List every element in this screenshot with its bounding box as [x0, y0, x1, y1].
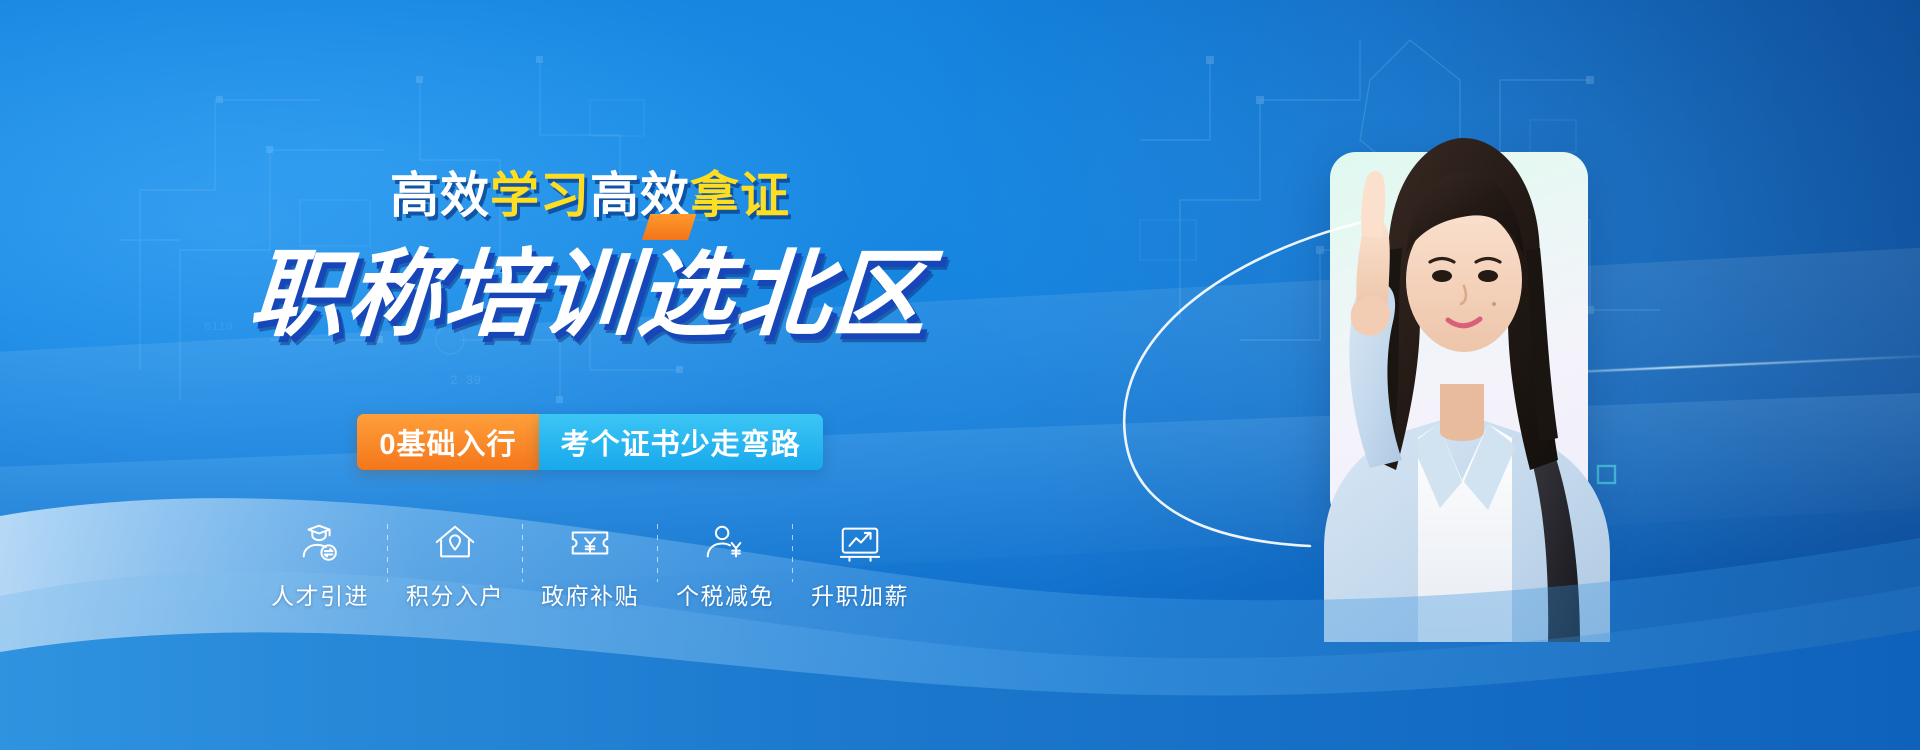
pill-certificate-shortcut: 考个证书少走弯路: [539, 414, 823, 470]
house-pin-icon: [432, 520, 478, 566]
kicker-seg-0: 高效: [390, 169, 490, 223]
feature-item-talent-intro[interactable]: 人才引进: [253, 520, 387, 611]
pill-label: 考个证书少走弯路: [561, 421, 801, 463]
person-yuan-icon: [702, 520, 748, 566]
headline-accent-char: 选: [634, 242, 738, 348]
kicker-seg-1: 学习: [490, 169, 590, 223]
feature-list: 人才引进 积分入户 政府补贴: [0, 520, 1180, 611]
feature-label: 政府补贴: [541, 577, 639, 611]
tagline-pills: 0基础入行 考个证书少走弯路: [0, 414, 1180, 470]
feature-label: 积分入户: [406, 577, 504, 611]
feature-item-gov-subsidy[interactable]: 政府补贴: [523, 520, 657, 611]
headline-lead: 职称培训: [246, 242, 641, 348]
feature-label: 升职加薪: [811, 577, 909, 611]
kicker-seg-3: 拿证: [690, 169, 790, 223]
headline-accent-char-wrap: 选: [634, 218, 741, 355]
headline-tail: 北区: [731, 242, 932, 348]
feature-item-promotion-raise[interactable]: 升职加薪: [793, 520, 927, 611]
pill-label: 0基础入行: [379, 421, 516, 463]
page-title: 职称培训选北区: [0, 218, 1185, 355]
pill-zero-basis: 0基础入行: [357, 414, 538, 470]
graduate-person-icon: [297, 520, 343, 566]
copy-block: 高效学习高效拿证 职称培训选北区 0基础入行 考个证书少走弯路: [0, 0, 1180, 750]
feature-label: 人才引进: [271, 577, 369, 611]
feature-label: 个税减免: [676, 577, 774, 611]
coupon-yuan-icon: [567, 520, 613, 566]
promo-banner: 2 39 0110: [0, 0, 1920, 750]
kicker-line: 高效学习高效拿证: [0, 156, 1180, 227]
feature-item-points-residency[interactable]: 积分入户: [388, 520, 522, 611]
feature-item-tax-relief[interactable]: 个税减免: [658, 520, 792, 611]
growth-chart-icon: [837, 520, 883, 566]
